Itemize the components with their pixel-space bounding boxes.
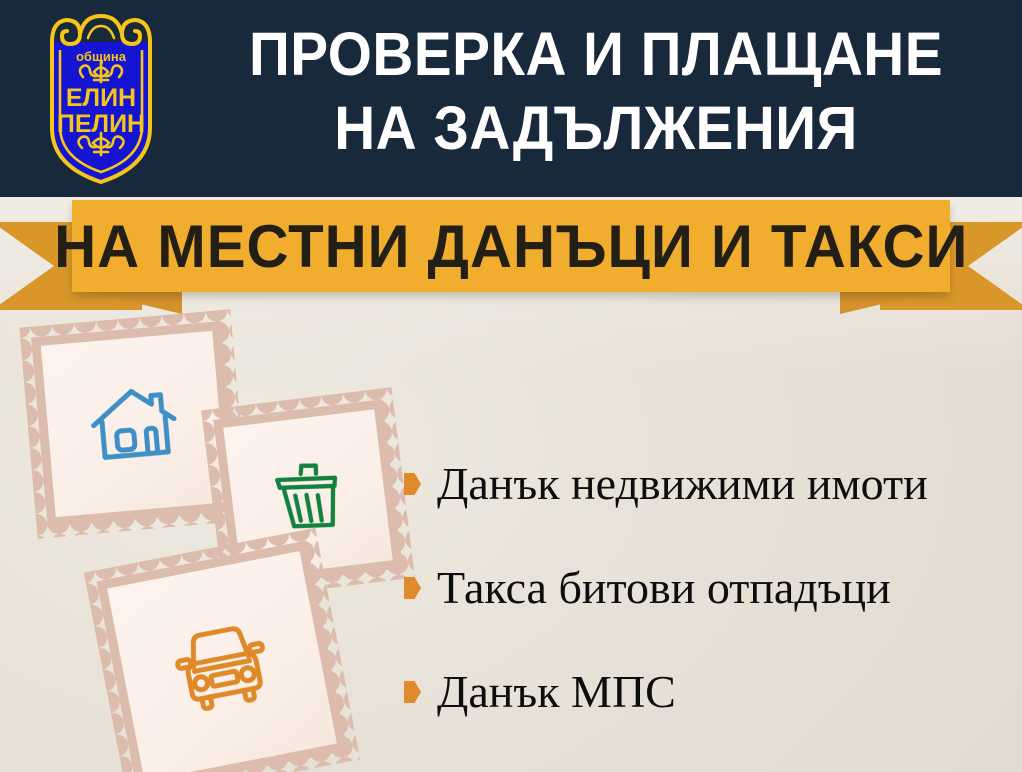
stamp-paper [107, 551, 337, 772]
list-item: Такса битови отпадъци [404, 536, 1014, 640]
arrow-bullet-icon [404, 577, 421, 599]
coat-of-arms-icon: община ЕЛИН ПЕЛИН [30, 8, 172, 186]
tax-type-list: Данък недвижими имоти Такса битови отпад… [404, 432, 1014, 744]
poster-root: община ЕЛИН ПЕЛИН ПРО [0, 0, 1022, 772]
stamp-vehicle-tax [84, 528, 361, 772]
page-title: ПРОВЕРКА И ПЛАЩАНЕ НА ЗАДЪЛЖЕНИЯ [215, 17, 978, 165]
list-item-label: Такса битови отпадъци [437, 564, 891, 612]
trash-bin-icon [263, 449, 352, 538]
house-icon [82, 372, 186, 476]
ribbon-label: НА МЕСТНИ ДАНЪЦИ И ТАКСИ [54, 212, 968, 281]
car-front-icon [159, 603, 286, 730]
header-banner: община ЕЛИН ПЕЛИН ПРО [0, 0, 1022, 197]
ribbon-body: НА МЕСТНИ ДАНЪЦИ И ТАКСИ [72, 200, 950, 292]
list-item-label: Данък недвижими имоти [437, 460, 928, 508]
arrow-bullet-icon [404, 473, 421, 495]
crest-line-1: ЕЛИН [66, 84, 136, 112]
list-item: Данък недвижими имоти [404, 432, 1014, 536]
list-item-label: Данък МПС [437, 668, 676, 716]
stamp-paper [41, 331, 227, 517]
arrow-bullet-icon [404, 681, 421, 703]
subtitle-ribbon: НА МЕСТНИ ДАНЪЦИ И ТАКСИ [0, 196, 1022, 311]
list-item: Данък МПС [404, 640, 1014, 744]
